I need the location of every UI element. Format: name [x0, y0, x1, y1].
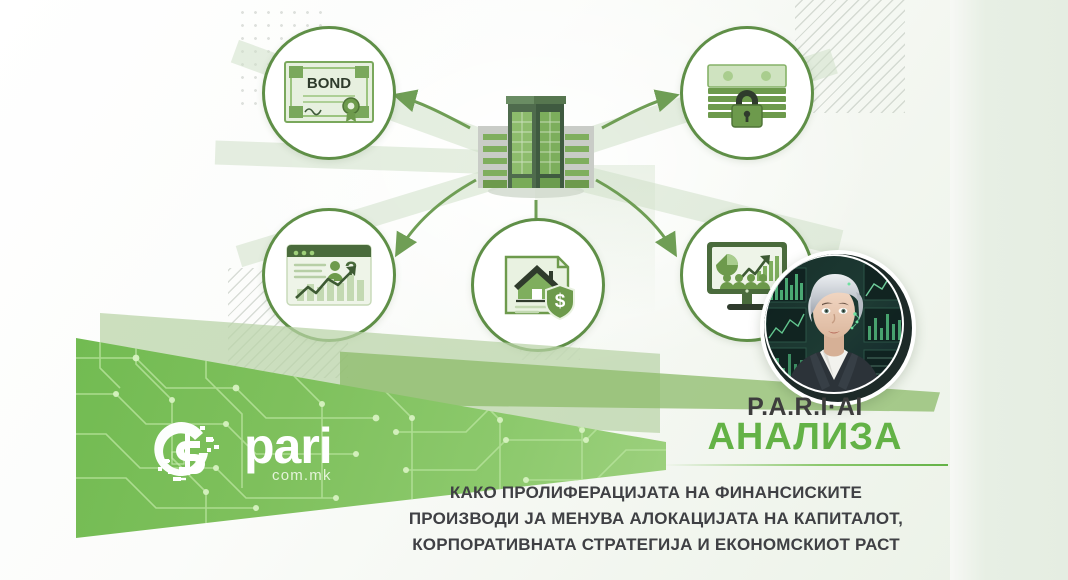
dollar-circuit-icon [150, 415, 226, 491]
money-stack-lock-icon [702, 57, 792, 129]
house-dollar-shield-icon: $ [494, 249, 582, 321]
node-growth-chart[interactable]: ? [262, 208, 396, 342]
headline-line-2: ПРОИЗВОДИ ЈА МЕНУВА АЛОКАЦИЈАТА НА КАПИТ… [378, 506, 934, 532]
brand-section-name: АНАЛИЗА [660, 418, 950, 456]
headline-line-3: КОРПОРАТИВНАТА СТРАТЕГИЈА И ЕКОНОМСКИОТ … [378, 532, 934, 558]
corporate-building-icon [466, 90, 606, 200]
background-right-band [950, 0, 1068, 580]
site-logo[interactable]: pari com.mk [150, 415, 332, 491]
brand-block: P.A.R.I·AI АНАЛИЗА [660, 394, 950, 456]
browser-growth-chart-icon: ? [284, 239, 374, 311]
node-bond-certificate[interactable]: BOND [262, 26, 396, 160]
brand-divider [662, 464, 948, 466]
ai-analyst-avatar [760, 250, 916, 406]
node-money-lock[interactable] [680, 26, 814, 160]
bond-label: BOND [307, 75, 351, 92]
promo-banner-canvas: BOND [0, 0, 1068, 580]
headline-line-1: КАКО ПРОЛИФЕРАЦИЈАТА НА ФИНАНСИСКИТЕ [378, 480, 934, 506]
headline: КАКО ПРОЛИФЕРАЦИЈАТА НА ФИНАНСИСКИТЕ ПРО… [378, 480, 934, 557]
logo-wordmark: pari [244, 423, 332, 469]
node-real-estate[interactable]: $ [471, 218, 605, 352]
bond-certificate-icon: BOND [283, 58, 375, 128]
svg-text:$: $ [555, 291, 566, 312]
